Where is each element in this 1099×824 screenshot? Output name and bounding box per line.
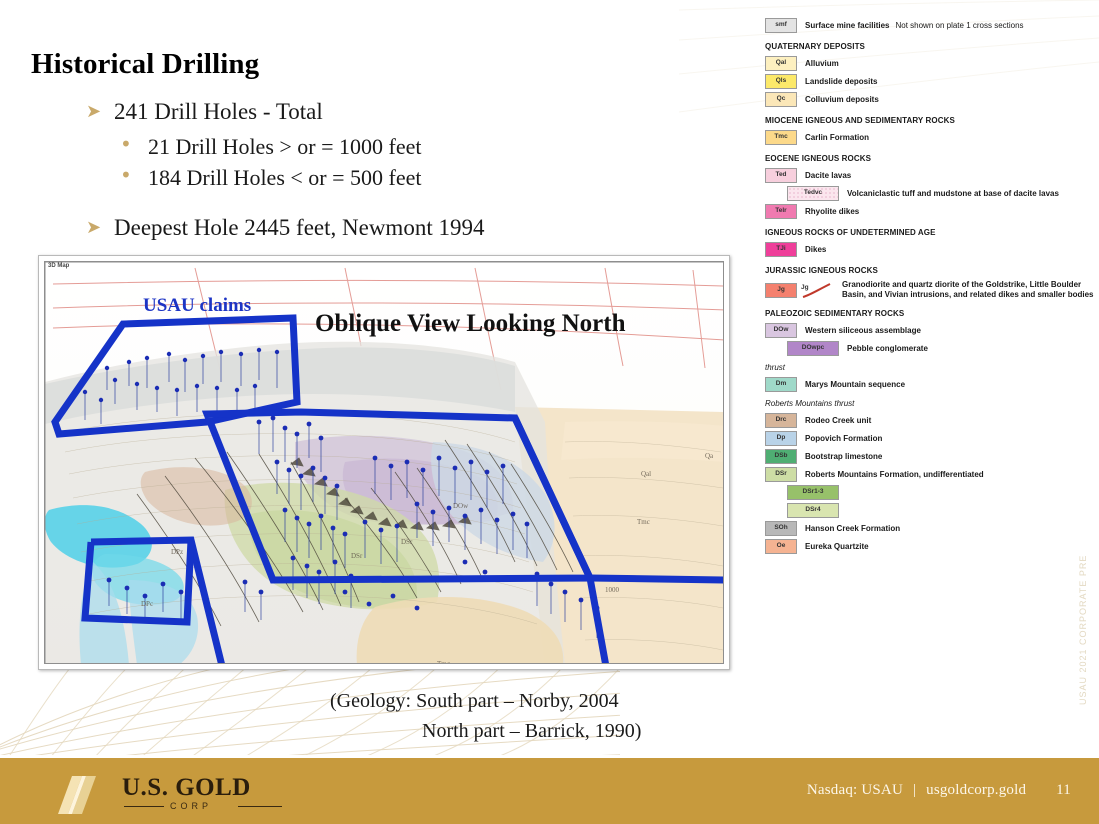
legend-item-tedvc: TedvcVolcaniclastic tuff and mudstone at… xyxy=(765,186,1095,201)
legend-swatch-soh: SOh xyxy=(765,521,797,536)
geology-map-canvas-container: Qal Tmc Tmg DOw DSr DSr DPz DPc Qa 1000 xyxy=(44,261,724,664)
dot-bullet-icon: • xyxy=(120,161,132,190)
legend-label: Eureka Quartzite xyxy=(805,542,869,552)
legend-item-dow: DOwWestern siliceous assemblage xyxy=(765,323,1095,338)
legend-item-dsr1-3: DSr1-3 xyxy=(765,485,1095,500)
legend-code: DSr4 xyxy=(805,507,820,514)
bullet-list: ➤ 241 Drill Holes - Total • 21 Drill Hol… xyxy=(86,96,766,247)
legend-item-dsb: DSbBootstrap limestone xyxy=(765,449,1095,464)
legend-swatch-tji: TJi xyxy=(765,242,797,257)
legend-swatch-jg: Jg xyxy=(765,283,797,298)
legend-swatch-qls: Qls xyxy=(765,74,797,89)
legend-swatch-dowpc: DOwpc xyxy=(787,341,839,356)
legend-code: Ted xyxy=(775,172,786,179)
arrow-bullet-icon: ➤ xyxy=(86,215,101,241)
legend-label: Pebble conglomerate xyxy=(847,344,928,354)
legend-code: DSb xyxy=(775,453,788,460)
usau-claims-label: USAU claims xyxy=(143,295,251,317)
legend-section-heading: QUATERNARY DEPOSITS xyxy=(765,42,1095,51)
legend-code: Telr xyxy=(775,208,786,215)
legend-label: Roberts Mountains Formation, undifferent… xyxy=(805,470,984,480)
legend-swatch-telr: Telr xyxy=(765,204,797,219)
legend-code: Qls xyxy=(776,78,786,85)
legend-item-soh: SOhHanson Creek Formation xyxy=(765,521,1095,536)
legend-label: Popovich Formation xyxy=(805,434,882,444)
legend-code: Dm xyxy=(776,381,786,388)
legend-item-dm: DmMarys Mountain sequence xyxy=(765,377,1095,392)
legend-thrust-label: thrust xyxy=(765,363,1095,372)
logo-subtext: CORP xyxy=(170,801,212,811)
legend-item-jg: JgJgGranodiorite and quartz diorite of t… xyxy=(765,280,1095,300)
legend-code: DSr xyxy=(775,471,787,478)
page-number: 11 xyxy=(1056,782,1071,798)
legend-swatch-dm: Dm xyxy=(765,377,797,392)
legend-code: Qc xyxy=(777,96,786,103)
legend-label: Volcaniclastic tuff and mudstone at base… xyxy=(847,189,1059,199)
oblique-view-title: Oblique View Looking North xyxy=(315,310,625,338)
legend-label: Alluvium xyxy=(805,59,839,69)
geology-legend: smfSurface mine facilitiesNot shown on p… xyxy=(765,18,1095,718)
legend-label: Carlin Formation xyxy=(805,133,869,143)
svg-text:Qal: Qal xyxy=(641,470,651,478)
legend-swatch-dsb: DSb xyxy=(765,449,797,464)
geology-map-figure[interactable]: Qal Tmc Tmg DOw DSr DSr DPz DPc Qa 1000 xyxy=(38,255,730,670)
legend-swatch-dsr1-3: DSr1-3 xyxy=(787,485,839,500)
legend-code: Qal xyxy=(776,60,786,67)
map-caption: (Geology: South part – Norby, 2004 North… xyxy=(330,686,750,746)
legend-item-tmc: TmcCarlin Formation xyxy=(765,130,1095,145)
legend-label: Dikes xyxy=(805,245,826,255)
bullet-deepest-hole: ➤ Deepest Hole 2445 feet, Newmont 1994 xyxy=(86,212,766,245)
legend-item-tji: TJiDikes xyxy=(765,242,1095,257)
legend-code: TJi xyxy=(776,246,785,253)
svg-text:Qa: Qa xyxy=(705,452,714,460)
legend-item-ted: TedDacite lavas xyxy=(765,168,1095,183)
legend-label: Surface mine facilitiesNot shown on plat… xyxy=(805,21,1024,31)
logo-rule-left xyxy=(124,806,164,807)
legend-swatch-qc: Qc xyxy=(765,92,797,107)
bullet-shallow-holes-label: 184 Drill Holes < or = 500 feet xyxy=(148,165,422,190)
logo-wordmark: U.S. GOLD xyxy=(122,774,251,802)
legend-label: Marys Mountain sequence xyxy=(805,380,905,390)
legend-item-qls: QlsLandslide deposits xyxy=(765,74,1095,89)
legend-item-dowpc: DOwpcPebble conglomerate xyxy=(765,341,1095,356)
legend-item-oe: OeEureka Quartzite xyxy=(765,539,1095,554)
legend-label: Western siliceous assemblage xyxy=(805,326,921,336)
legend-swatch-oe: Oe xyxy=(765,539,797,554)
legend-code: Oe xyxy=(777,543,786,550)
legend-item-smf: smfSurface mine facilitiesNot shown on p… xyxy=(765,18,1095,33)
legend-code: smf xyxy=(775,22,787,29)
arrow-bullet-icon: ➤ xyxy=(86,99,101,125)
us-gold-corp-logo[interactable]: U.S. GOLD CORP xyxy=(52,770,282,816)
legend-swatch-dsr4: DSr4 xyxy=(787,503,839,518)
legend-label: Landslide deposits xyxy=(805,77,877,87)
logo-rule-right xyxy=(238,806,282,807)
page-title: Historical Drilling xyxy=(31,48,259,81)
caption-line-2: North part – Barrick, 1990) xyxy=(330,716,750,746)
legend-swatch-tmc: Tmc xyxy=(765,130,797,145)
legend-section-heading: JURASSIC IGNEOUS ROCKS xyxy=(765,266,1095,275)
legend-item-dsr4: DSr4 xyxy=(765,503,1095,518)
svg-text:Tmc: Tmc xyxy=(637,518,650,526)
legend-swatch-smf: smf xyxy=(765,18,797,33)
legend-label: Colluvium deposits xyxy=(805,95,879,105)
legend-code: Tedvc xyxy=(804,190,822,197)
bullet-deepest-hole-label: Deepest Hole 2445 feet, Newmont 1994 xyxy=(114,215,484,240)
slide-footer: U.S. GOLD CORP Nasdaq: USAU | usgoldcorp… xyxy=(0,758,1099,824)
legend-swatch-qal: Qal xyxy=(765,56,797,71)
svg-text:DOw: DOw xyxy=(453,502,469,510)
legend-swatch-dow: DOw xyxy=(765,323,797,338)
svg-text:DPc: DPc xyxy=(141,600,153,608)
svg-text:DPz: DPz xyxy=(171,548,183,556)
legend-item-dsr: DSrRoberts Mountains Formation, undiffer… xyxy=(765,467,1095,482)
dot-bullet-icon: • xyxy=(120,130,132,159)
svg-text:DSr: DSr xyxy=(351,552,363,560)
legend-label: Dacite lavas xyxy=(805,171,851,181)
legend-section-heading: PALEOZOIC SEDIMENTARY ROCKS xyxy=(765,309,1095,318)
legend-label: Bootstrap limestone xyxy=(805,452,882,462)
bullet-total: ➤ 241 Drill Holes - Total xyxy=(86,96,766,129)
bullet-deep-holes: • 21 Drill Holes > or = 1000 feet xyxy=(86,131,766,163)
legend-section-heading: EOCENE IGNEOUS ROCKS xyxy=(765,154,1095,163)
legend-swatch-dp: Dp xyxy=(765,431,797,446)
legend-swatch-ted: Ted xyxy=(765,168,797,183)
legend-code: DSr1-3 xyxy=(803,489,824,496)
footer-website[interactable]: usgoldcorp.gold xyxy=(926,782,1026,798)
legend-swatch-dsr: DSr xyxy=(765,467,797,482)
bullet-total-label: 241 Drill Holes - Total xyxy=(114,99,323,124)
legend-code: DOwpc xyxy=(802,345,824,352)
legend-section-heading: MIOCENE IGNEOUS AND SEDIMENTARY ROCKS xyxy=(765,116,1095,125)
legend-item-telr: TelrRhyolite dikes xyxy=(765,204,1095,219)
legend-label: Hanson Creek Formation xyxy=(805,524,900,534)
legend-item-dp: DpPopovich Formation xyxy=(765,431,1095,446)
legend-code: DOw xyxy=(774,327,789,334)
legend-code: Jg xyxy=(777,287,785,294)
legend-section-heading: IGNEOUS ROCKS OF UNDETERMINED AGE xyxy=(765,228,1095,237)
bullet-deep-holes-label: 21 Drill Holes > or = 1000 feet xyxy=(148,134,422,159)
legend-code: Tmc xyxy=(774,134,787,141)
map-corner-label: 3D Map xyxy=(48,263,69,269)
caption-line-1: (Geology: South part – Norby, 2004 xyxy=(330,686,750,716)
bullet-shallow-holes: • 184 Drill Holes < or = 500 feet xyxy=(86,162,766,194)
intrusion-dike-symbol-icon: Jg xyxy=(800,282,834,299)
legend-code: Drc xyxy=(776,417,787,424)
legend-swatch-tedvc: Tedvc xyxy=(787,186,839,201)
svg-text:Tmg: Tmg xyxy=(437,660,451,664)
legend-note: Not shown on plate 1 cross sections xyxy=(895,21,1023,30)
legend-label: Granodiorite and quartz diorite of the G… xyxy=(842,280,1095,300)
svg-text:DSr: DSr xyxy=(401,538,413,546)
legend-label: Rodeo Creek unit xyxy=(805,416,871,426)
legend-code: Dp xyxy=(777,435,786,442)
legend-item-qal: QalAlluvium xyxy=(765,56,1095,71)
gold-bars-logo-icon xyxy=(52,770,114,816)
legend-swatch-drc: Drc xyxy=(765,413,797,428)
legend-item-drc: DrcRodeo Creek unit xyxy=(765,413,1095,428)
legend-label: Rhyolite dikes xyxy=(805,207,859,217)
legend-roberts-thrust-label: Roberts Mountains thrust xyxy=(765,399,1095,408)
footer-info: Nasdaq: USAU | usgoldcorp.gold 11 xyxy=(807,782,1071,799)
footer-separator: | xyxy=(913,782,916,798)
svg-text:1000: 1000 xyxy=(605,586,620,594)
footer-ticker: Nasdaq: USAU xyxy=(807,782,903,798)
legend-code: SOh xyxy=(774,525,787,532)
legend-item-qc: QcColluvium deposits xyxy=(765,92,1095,107)
